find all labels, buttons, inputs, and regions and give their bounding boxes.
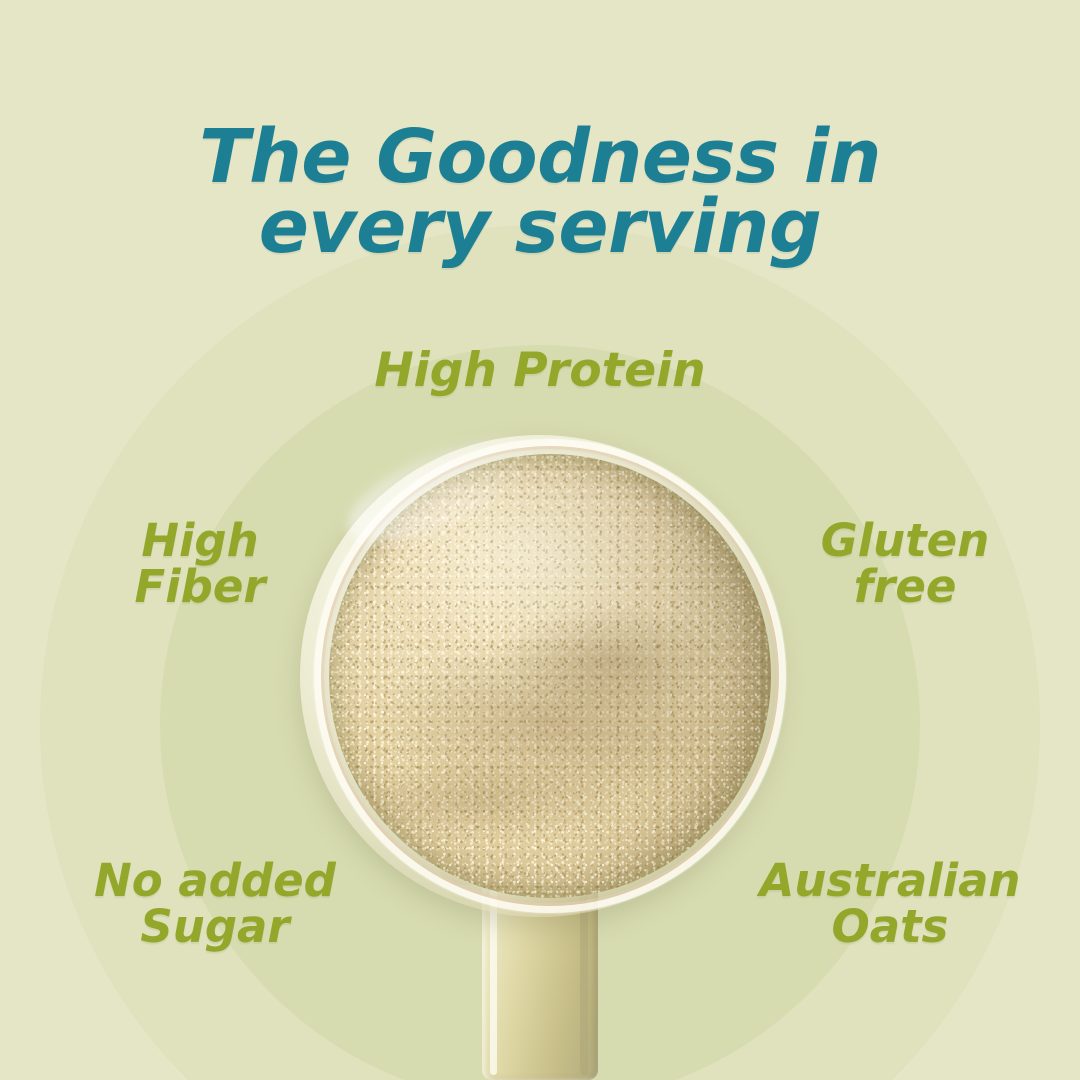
benefit-label-high-protein: High Protein bbox=[290, 347, 790, 395]
title-line-2: every serving bbox=[0, 192, 1080, 262]
benefit-label-no-added-sugar: No added Sugar bbox=[45, 858, 385, 950]
title-line-1: The Goodness in bbox=[0, 122, 1080, 192]
benefit-label-high-fiber: High Fiber bbox=[60, 518, 340, 610]
product-scoop-image bbox=[290, 435, 790, 1080]
benefit-label-australian-oats: Australian Oats bbox=[710, 858, 1070, 950]
scoop-cup bbox=[300, 435, 780, 917]
promo-graphic: The Goodness in every serving High Prote… bbox=[0, 0, 1080, 1080]
page-title: The Goodness in every serving bbox=[0, 122, 1080, 263]
benefit-label-gluten-free: Gluten free bbox=[760, 518, 1050, 610]
